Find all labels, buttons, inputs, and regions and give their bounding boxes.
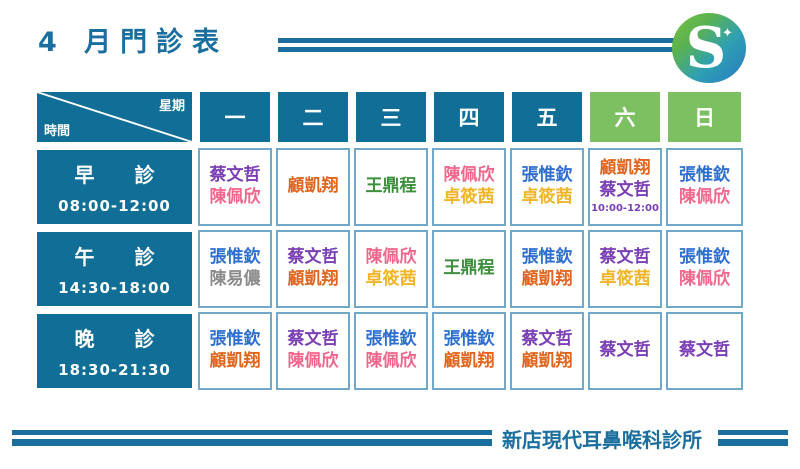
doctor-name: 顧凱翔 <box>444 351 495 373</box>
session-name: 晚 診 <box>65 323 165 352</box>
schedule-cell[interactable]: 蔡文哲陳佩欣 <box>274 310 352 392</box>
schedule-cell-inner: 張惟欽顧凱翔 <box>432 312 506 390</box>
schedule-table: 星期 時間 一 二 三 四 五 六 日 早 診08:00-12:00蔡文哲陳佩欣… <box>33 88 745 392</box>
session-time-range: 14:30-18:00 <box>58 279 171 297</box>
doctor-name: 蔡文哲 <box>600 340 651 362</box>
doctor-name: 顧凱翔 <box>522 351 573 373</box>
day-header-cell: 三 <box>352 88 430 146</box>
session-time-cell: 晚 診18:30-21:30 <box>33 310 196 392</box>
title-rule-decoration <box>278 38 676 54</box>
doctor-name: 蔡文哲 <box>288 247 339 269</box>
schedule-cell[interactable]: 張惟欽顧凱翔 <box>196 310 274 392</box>
weekday-axis-label: 星期 <box>159 95 185 114</box>
schedule-cell-inner: 顧凱翔 <box>276 148 350 226</box>
schedule-cell[interactable]: 蔡文哲陳佩欣 <box>196 146 274 228</box>
schedule-cell-inner: 蔡文哲 <box>666 312 743 390</box>
schedule-cell[interactable]: 顧凱翔 <box>274 146 352 228</box>
schedule-cell-inner: 陳佩欣卓筱茜 <box>432 148 506 226</box>
schedule-cell[interactable]: 王鼎程 <box>352 146 430 228</box>
schedule-cell-inner: 張惟欽陳佩欣 <box>354 312 428 390</box>
doctor-name: 張惟欽 <box>210 329 261 351</box>
doctor-name: 卓筱茜 <box>522 187 573 209</box>
footer-rule-left-bottom <box>12 439 492 446</box>
sparkle-icon: ✦ <box>722 28 733 39</box>
schedule-cell-inner: 蔡文哲卓筱茜 <box>588 230 662 308</box>
table-row: 晚 診18:30-21:30張惟欽顧凱翔蔡文哲陳佩欣張惟欽陳佩欣張惟欽顧凱翔蔡文… <box>33 310 745 392</box>
schedule-cell[interactable]: 張惟欽卓筱茜 <box>508 146 586 228</box>
footer-rule-right-bottom <box>718 439 788 446</box>
session-time-inner: 早 診08:00-12:00 <box>35 148 194 226</box>
day-header-fri: 五 <box>510 90 584 144</box>
schedule-cell[interactable]: 陳佩欣卓筱茜 <box>430 146 508 228</box>
doctor-name: 張惟欽 <box>522 165 573 187</box>
schedule-cell[interactable]: 張惟欽陳易儂 <box>196 228 274 310</box>
doctor-name: 張惟欽 <box>366 329 417 351</box>
day-header-cell: 五 <box>508 88 586 146</box>
session-name: 早 診 <box>65 159 165 188</box>
schedule-cell-inner: 張惟欽卓筱茜 <box>510 148 584 226</box>
schedule-cell-note: 10:00-12:00 <box>591 203 659 216</box>
doctor-name: 蔡文哲 <box>288 329 339 351</box>
logo-letter: S <box>672 13 746 83</box>
table-row: 午 診14:30-18:00張惟欽陳易儂蔡文哲顧凱翔陳佩欣卓筱茜王鼎程張惟欽顧凱… <box>33 228 745 310</box>
title-rule-line-bottom <box>278 47 676 52</box>
day-header-cell: 二 <box>274 88 352 146</box>
schedule-cell[interactable]: 顧凱翔蔡文哲10:00-12:00 <box>586 146 664 228</box>
doctor-name: 張惟欽 <box>679 247 730 269</box>
schedule-cell-inner: 蔡文哲陳佩欣 <box>198 148 272 226</box>
day-header-cell: 六 <box>586 88 664 146</box>
page-title: 4 月門診表 <box>38 26 228 60</box>
session-time-inner: 午 診14:30-18:00 <box>35 230 194 308</box>
schedule-cell-inner: 蔡文哲顧凱翔 <box>510 312 584 390</box>
day-header-sat: 六 <box>588 90 662 144</box>
day-header-sun: 日 <box>666 90 743 144</box>
schedule-cell[interactable]: 張惟欽顧凱翔 <box>430 310 508 392</box>
session-time-inner: 晚 診18:30-21:30 <box>35 312 194 390</box>
time-axis-label: 時間 <box>44 120 70 139</box>
doctor-name: 陳佩欣 <box>679 269 730 291</box>
day-header-mon: 一 <box>198 90 272 144</box>
doctor-name: 卓筱茜 <box>600 269 651 291</box>
schedule-cell-inner: 張惟欽顧凱翔 <box>510 230 584 308</box>
corner-header-cell: 星期 時間 <box>33 88 196 146</box>
doctor-name: 王鼎程 <box>366 176 417 198</box>
table-row: 早 診08:00-12:00蔡文哲陳佩欣顧凱翔王鼎程陳佩欣卓筱茜張惟欽卓筱茜顧凱… <box>33 146 745 228</box>
title-rule-line-top <box>278 38 676 43</box>
session-name: 午 診 <box>65 241 165 270</box>
doctor-name: 卓筱茜 <box>444 187 495 209</box>
session-time-range: 08:00-12:00 <box>58 197 171 215</box>
schedule-cell-inner: 蔡文哲 <box>588 312 662 390</box>
doctor-name: 陳佩欣 <box>679 187 730 209</box>
doctor-name: 王鼎程 <box>444 258 495 280</box>
schedule-table-body: 早 診08:00-12:00蔡文哲陳佩欣顧凱翔王鼎程陳佩欣卓筱茜張惟欽卓筱茜顧凱… <box>33 146 745 392</box>
day-header-wed: 三 <box>354 90 428 144</box>
schedule-cell[interactable]: 蔡文哲卓筱茜 <box>586 228 664 310</box>
corner-cell-inner: 星期 時間 <box>35 90 194 144</box>
session-time-cell: 午 診14:30-18:00 <box>33 228 196 310</box>
day-header-tue: 二 <box>276 90 350 144</box>
doctor-name: 顧凱翔 <box>522 269 573 291</box>
day-header-cell: 一 <box>196 88 274 146</box>
doctor-name: 陳佩欣 <box>210 187 261 209</box>
schedule-cell-inner: 張惟欽陳佩欣 <box>666 148 743 226</box>
schedule-cell-inner: 王鼎程 <box>354 148 428 226</box>
clinic-logo: S ✦ <box>672 13 746 83</box>
schedule-cell-inner: 張惟欽陳易儂 <box>198 230 272 308</box>
schedule-cell-inner: 顧凱翔蔡文哲10:00-12:00 <box>588 148 662 226</box>
doctor-name: 張惟欽 <box>444 329 495 351</box>
schedule-cell[interactable]: 張惟欽顧凱翔 <box>508 228 586 310</box>
schedule-cell-inner: 陳佩欣卓筱茜 <box>354 230 428 308</box>
session-time-cell: 早 診08:00-12:00 <box>33 146 196 228</box>
schedule-table-wrapper: 星期 時間 一 二 三 四 五 六 日 早 診08:00-12:00蔡文哲陳佩欣… <box>33 88 745 405</box>
footer-rule-left-top <box>12 430 492 435</box>
doctor-name: 顧凱翔 <box>210 351 261 373</box>
doctor-name: 陳佩欣 <box>288 351 339 373</box>
doctor-name: 陳佩欣 <box>444 165 495 187</box>
schedule-cell[interactable]: 張惟欽陳佩欣 <box>352 310 430 392</box>
footer-rule-right-top <box>718 430 788 435</box>
doctor-name: 蔡文哲 <box>600 247 651 269</box>
schedule-cell[interactable]: 王鼎程 <box>430 228 508 310</box>
day-header-cell: 四 <box>430 88 508 146</box>
doctor-name: 蔡文哲 <box>522 329 573 351</box>
schedule-cell-inner: 王鼎程 <box>432 230 506 308</box>
schedule-cell[interactable]: 蔡文哲顧凱翔 <box>274 228 352 310</box>
doctor-name: 顧凱翔 <box>288 176 339 198</box>
page-footer: 新店現代耳鼻喉科診所 <box>0 420 800 460</box>
doctor-name: 蔡文哲 <box>600 180 651 202</box>
schedule-cell[interactable]: 蔡文哲顧凱翔 <box>508 310 586 392</box>
table-header-row: 星期 時間 一 二 三 四 五 六 日 <box>33 88 745 146</box>
doctor-name: 陳佩欣 <box>366 351 417 373</box>
doctor-name: 張惟欽 <box>679 165 730 187</box>
doctor-name: 陳佩欣 <box>366 247 417 269</box>
doctor-name: 張惟欽 <box>522 247 573 269</box>
schedule-cell-inner: 蔡文哲顧凱翔 <box>276 230 350 308</box>
clinic-name: 新店現代耳鼻喉科診所 <box>502 424 702 453</box>
schedule-cell[interactable]: 張惟欽陳佩欣 <box>664 146 745 228</box>
page-header: 4 月門診表 S ✦ <box>0 0 800 86</box>
doctor-name: 顧凱翔 <box>600 158 651 180</box>
schedule-cell-inner: 蔡文哲陳佩欣 <box>276 312 350 390</box>
day-header-thu: 四 <box>432 90 506 144</box>
schedule-cell-inner: 張惟欽顧凱翔 <box>198 312 272 390</box>
schedule-cell[interactable]: 蔡文哲 <box>664 310 745 392</box>
doctor-name: 張惟欽 <box>210 247 261 269</box>
doctor-name: 卓筱茜 <box>366 269 417 291</box>
schedule-cell[interactable]: 陳佩欣卓筱茜 <box>352 228 430 310</box>
doctor-name: 顧凱翔 <box>288 269 339 291</box>
doctor-name: 蔡文哲 <box>210 165 261 187</box>
doctor-name: 蔡文哲 <box>679 340 730 362</box>
schedule-cell-inner: 張惟欽陳佩欣 <box>666 230 743 308</box>
doctor-name: 陳易儂 <box>210 269 261 291</box>
day-header-cell: 日 <box>664 88 745 146</box>
schedule-cell[interactable]: 蔡文哲 <box>586 310 664 392</box>
session-time-range: 18:30-21:30 <box>58 361 171 379</box>
schedule-cell[interactable]: 張惟欽陳佩欣 <box>664 228 745 310</box>
